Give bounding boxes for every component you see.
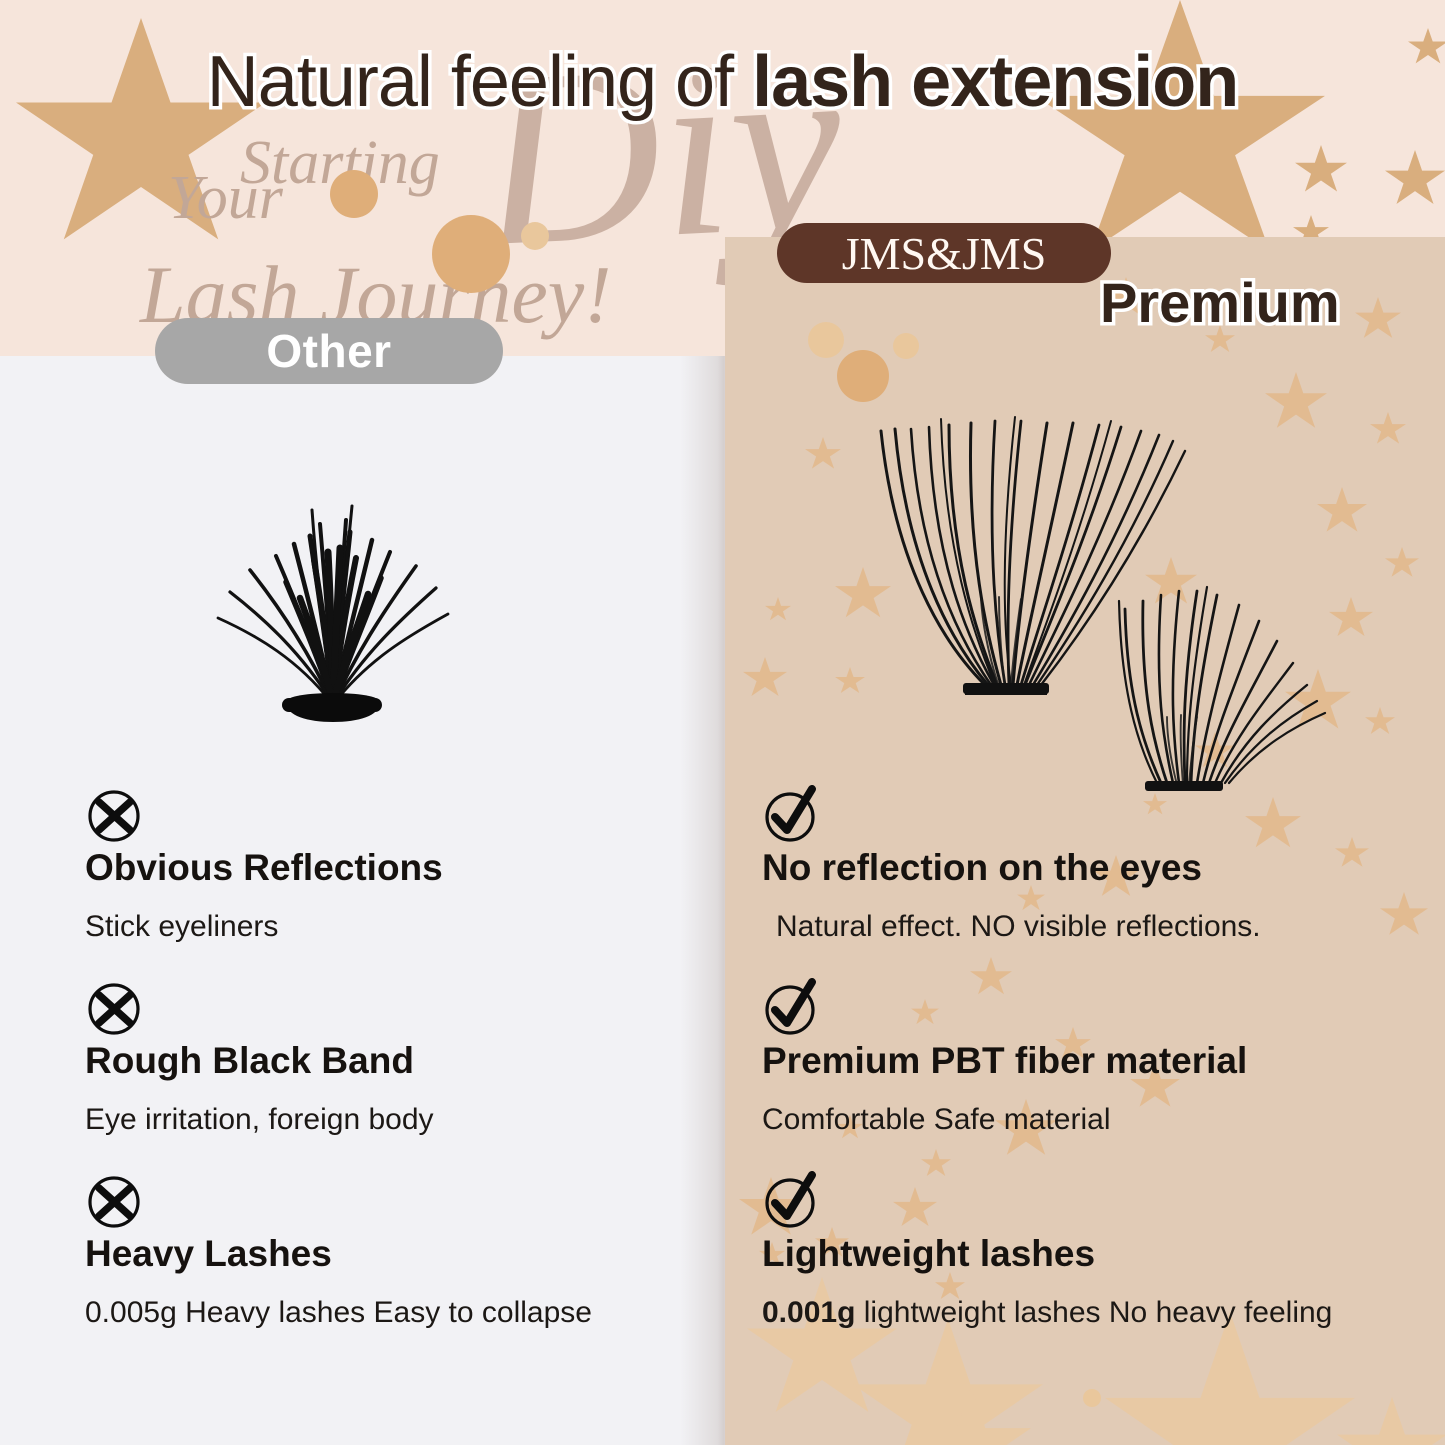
feature-title: Premium PBT fiber material [762,1040,1442,1081]
other-badge-label: Other [266,324,391,378]
decorative-star-r5 [1370,412,1406,446]
feature-title: Obvious Reflections [85,847,685,888]
check-circle-icon [762,785,820,843]
feature-title: Rough Black Band [85,1040,685,1081]
decorative-script-your: Your [168,163,283,234]
dense-black-lash-cluster-image [168,440,498,740]
decorative-circle-2 [432,215,510,293]
x-circle-icon [85,785,143,843]
feature-subtitle: Eye irritation, foreign body [85,1103,685,1138]
decorative-star-r11 [765,597,791,622]
feature-subtitle-rest: lightweight lashes No heavy feeling [855,1296,1332,1329]
feature-item: Premium PBT fiber material Comfortable S… [762,978,1442,1138]
feature-subtitle: 0.001g lightweight lashes No heavy feeli… [762,1296,1442,1331]
check-circle-icon [762,978,820,1036]
wispy-curved-lash-clusters-image [825,395,1345,795]
decorative-star-r4 [1355,297,1401,341]
decorative-circle-r3 [893,333,919,359]
comparison-infographic: Diy Starting Your Lash Journey! Natural … [0,0,1445,1445]
feature-item: Obvious Reflections Stick eyeliners [85,785,685,945]
x-circle-icon [85,1171,143,1229]
headline-bold-part: lash extension [752,42,1238,122]
feature-subtitle: Comfortable Safe material [762,1103,1442,1138]
other-feature-list: Obvious Reflections Stick eyeliners Roug… [85,785,685,1364]
feature-title: Heavy Lashes [85,1233,685,1274]
premium-feature-list: No reflection on the eyes Natural effect… [762,785,1442,1364]
decorative-circle-3 [521,222,549,250]
feature-title: Lightweight lashes [762,1233,1442,1274]
other-badge: Other [155,318,503,384]
decorative-star-big-5 [1337,1397,1445,1445]
page-title: Natural feeling of lash extension [0,46,1445,118]
decorative-circle-r1 [808,322,844,358]
decorative-circle-r4 [1083,1389,1101,1407]
premium-label: Premium [1100,270,1340,335]
decorative-circle-1 [330,170,378,218]
feature-subtitle: Natural effect. NO visible reflections. [776,910,1442,945]
feature-title: No reflection on the eyes [762,847,1442,888]
x-circle-icon [85,978,143,1036]
brand-badge: JMS&JMS [777,223,1111,283]
headline-regular-part: Natural feeling of [207,42,752,122]
brand-badge-label: JMS&JMS [842,227,1047,280]
decorative-star-r16 [1365,707,1395,736]
feature-item: Heavy Lashes 0.005g Heavy lashes Easy to… [85,1171,685,1331]
feature-item: No reflection on the eyes Natural effect… [762,785,1442,945]
decorative-star-r7 [1385,547,1419,579]
decorative-star-r12 [743,657,787,699]
feature-subtitle: Stick eyeliners [85,910,685,945]
feature-item: Rough Black Band Eye irritation, foreign… [85,978,685,1138]
feature-subtitle-weight: 0.001g [762,1296,855,1329]
feature-subtitle: 0.005g Heavy lashes Easy to collapse [85,1296,685,1331]
feature-item: Lightweight lashes 0.001g lightweight la… [762,1171,1442,1331]
check-circle-icon [762,1171,820,1229]
